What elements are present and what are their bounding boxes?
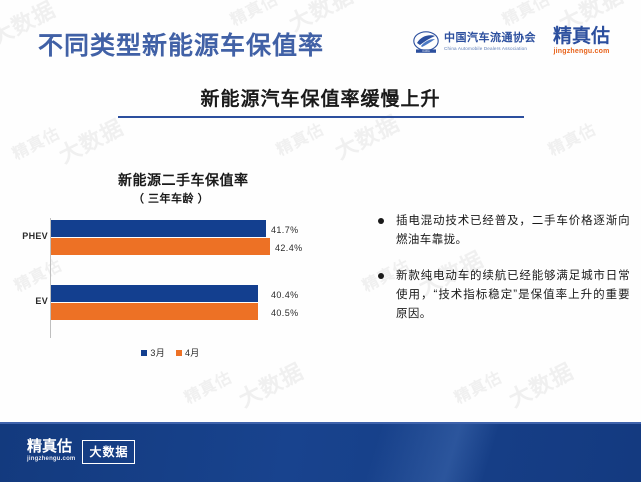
chart-title: 新能源二手车保值率 bbox=[118, 170, 249, 190]
cada-association-logo: CADA 中国汽车流通协会 China Automobile Dealers A… bbox=[413, 29, 536, 55]
legend-swatch-april bbox=[176, 350, 182, 356]
chart-subtitle: （ 三年车龄 ） bbox=[133, 190, 209, 206]
bar-group-ev: EV 40.4% 40.5% bbox=[20, 283, 340, 323]
bar-phev-march bbox=[51, 220, 266, 237]
bar-value-ev-march: 40.4% bbox=[271, 290, 299, 300]
bar-value-ev-april: 40.5% bbox=[271, 308, 299, 318]
section-subtitle: 新能源汽车保值率缓慢上升 bbox=[0, 84, 641, 111]
bar-phev-april bbox=[51, 238, 270, 255]
legend-item-april: 4月 bbox=[176, 346, 200, 359]
cada-bird-logo-icon: CADA bbox=[413, 29, 439, 55]
bullet-dot-icon bbox=[378, 218, 384, 224]
footer-banner: 精真估 jingzhengu.com 大数据 bbox=[0, 422, 641, 482]
list-item: 插电混动技术已经普及，二手车价格逐渐向燃油车靠拢。 bbox=[378, 212, 630, 250]
footer-top-divider bbox=[0, 422, 641, 424]
watermark: 精真估 bbox=[543, 116, 599, 161]
footer-brand-en: jingzhengu.com bbox=[27, 455, 75, 464]
category-label-ev: EV bbox=[20, 296, 48, 306]
cada-logo-cn: 中国汽车流通协会 bbox=[444, 32, 536, 45]
jingzhengu-logo-en: jingzhengu.com bbox=[553, 47, 610, 57]
bar-chart-plot: PHEV 41.7% 42.4% EV 40.4% 40.5% bbox=[20, 218, 340, 338]
footer-brand-cn: 精真估 bbox=[27, 439, 75, 455]
footer-bigdata-tag: 大数据 bbox=[82, 440, 135, 464]
insights-list: 插电混动技术已经普及，二手车价格逐渐向燃油车靠拢。 新款纯电动车的续航已经能够满… bbox=[378, 212, 630, 341]
bar-ev-march bbox=[51, 285, 258, 302]
subtitle-divider bbox=[118, 116, 524, 118]
legend-item-march: 3月 bbox=[141, 346, 165, 359]
watermark: 精真估 bbox=[7, 120, 63, 165]
watermark: 大数据 bbox=[52, 110, 128, 170]
watermark: 大数据 bbox=[232, 354, 308, 414]
svg-text:CADA: CADA bbox=[422, 49, 430, 53]
watermark: 大数据 bbox=[502, 354, 578, 414]
watermark: 精真估 bbox=[497, 0, 553, 30]
page-title: 不同类型新能源车保值率 bbox=[38, 26, 324, 62]
footer-brand: 精真估 jingzhengu.com 大数据 bbox=[27, 439, 135, 464]
bar-ev-april bbox=[51, 303, 258, 320]
category-label-phev: PHEV bbox=[20, 231, 48, 241]
jingzhengu-logo: 精真估 jingzhengu.com bbox=[553, 27, 610, 57]
watermark: 精真估 bbox=[271, 116, 327, 161]
watermark: 精真估 bbox=[179, 364, 235, 409]
watermark: 精真估 bbox=[449, 364, 505, 409]
jingzhengu-logo-cn: 精真估 bbox=[553, 27, 610, 47]
bullet-text: 新款纯电动车的续航已经能够满足城市日常使用，“技术指标稳定”是保值率上升的重要原… bbox=[396, 267, 630, 324]
bullet-text: 插电混动技术已经普及，二手车价格逐渐向燃油车靠拢。 bbox=[396, 212, 630, 250]
cada-logo-en: China Automobile Dealers Association bbox=[444, 45, 536, 52]
legend-swatch-march bbox=[141, 350, 147, 356]
chart-legend: 3月 4月 bbox=[0, 346, 341, 359]
list-item: 新款纯电动车的续航已经能够满足城市日常使用，“技术指标稳定”是保值率上升的重要原… bbox=[378, 267, 630, 324]
legend-label-april: 4月 bbox=[185, 346, 200, 359]
bar-value-phev-march: 41.7% bbox=[271, 225, 299, 235]
slide-canvas: 大数据 精真估 大数据 精真估 大数据 精真估 大数据 精真估 大数据 精真估 … bbox=[0, 0, 641, 482]
bar-group-phev: PHEV 41.7% 42.4% bbox=[20, 218, 340, 258]
bullet-dot-icon bbox=[378, 273, 384, 279]
bar-value-phev-april: 42.4% bbox=[275, 243, 303, 253]
legend-label-march: 3月 bbox=[150, 346, 165, 359]
